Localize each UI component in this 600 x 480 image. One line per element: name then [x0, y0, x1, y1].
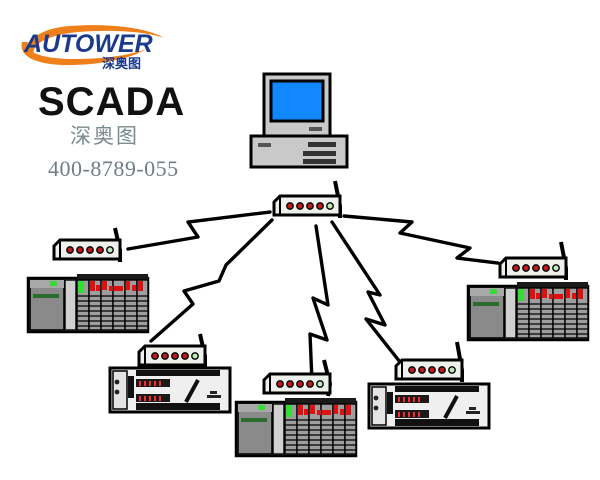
plc-io-led-r1: [90, 281, 95, 291]
rtu-bottom-terminals: [395, 419, 479, 426]
rtu-knob-2: [115, 390, 120, 395]
plc-cpu-display: [241, 418, 267, 422]
plc-io-led-r7: [340, 409, 344, 415]
radio-led-5: [553, 265, 559, 271]
plc-io-led-green: [286, 405, 292, 417]
wireless-radio-modem-icon-hub[interactable]: [268, 180, 360, 230]
monitor-control: [309, 127, 322, 131]
radio-led-5: [317, 381, 323, 387]
radio-led-3: [297, 381, 303, 387]
radio-led-4: [97, 247, 103, 253]
plc-cpu-top: [238, 404, 272, 412]
radio-led-1: [67, 247, 73, 253]
plc-io-led-r2: [536, 293, 540, 299]
radio-led-2: [287, 381, 293, 387]
rtu-connector: [387, 392, 393, 414]
flow-computer-site-lower-right[interactable]: [367, 382, 491, 430]
plc-io-modules: [517, 282, 588, 338]
case-button: [258, 143, 271, 147]
plc-io-led-r7: [572, 293, 576, 299]
plc-io-led-r6: [566, 289, 570, 298]
plc-io-led-green: [78, 281, 84, 293]
radio-led-3: [87, 247, 93, 253]
rtu-top-terminals: [136, 370, 220, 376]
radio-led-3: [307, 203, 313, 209]
radio-led-5: [327, 203, 333, 209]
monitor-screen: [271, 81, 323, 121]
plc-io-led-r5: [114, 286, 123, 291]
radio-led-4: [543, 265, 549, 271]
radio-led-2: [162, 353, 168, 359]
plc-rack-site-left[interactable]: [26, 272, 152, 334]
plc-rack-site-center[interactable]: [234, 396, 360, 458]
rtu-display-2: [136, 394, 170, 402]
plc-io-led-r1: [298, 405, 303, 415]
radio-led-3: [429, 367, 435, 373]
plc-cpu-top: [470, 288, 504, 296]
plc-io-led-r6: [334, 405, 338, 414]
wireless-link-to-site-lower-left-rtu: [151, 220, 272, 341]
plc-io-led-r4: [109, 286, 113, 291]
rtu-knob-2: [374, 406, 379, 411]
plc-terminal-rows: [517, 304, 588, 334]
radio-led-1: [513, 265, 519, 271]
plc-cpu-run-led: [490, 289, 497, 294]
radio-led-2: [77, 247, 83, 253]
plc-io-led-r2: [96, 285, 100, 291]
rtu-left-panel: [113, 371, 127, 409]
rtu-left-panel: [372, 387, 386, 425]
plc-io-led-r8: [346, 405, 351, 415]
plc-io-led-r3: [102, 281, 107, 290]
radio-led-2: [297, 203, 303, 209]
plc-io-led-r5: [322, 410, 331, 415]
plc-io-modules: [77, 274, 148, 330]
plc-io-led-r3: [310, 405, 315, 414]
plc-io-led-r5: [554, 294, 563, 299]
plc-blank-slot: [65, 280, 76, 330]
plc-cpu-display: [473, 302, 499, 306]
plc-io-led-r1: [530, 289, 535, 299]
radio-led-2: [523, 265, 529, 271]
rtu-display-1: [136, 379, 170, 387]
diagram-canvas: AUTOWER 深奥图 SCADA 深奥图 400-8789-055: [0, 0, 600, 480]
rtu-label-1: [207, 395, 221, 398]
radio-led-1: [152, 353, 158, 359]
wireless-link-to-site-center-plc: [310, 226, 328, 382]
plc-terminal-rows: [77, 296, 148, 326]
plc-io-led-r4: [549, 294, 553, 299]
rtu-knob-1: [115, 380, 120, 385]
case-slot-1: [308, 142, 336, 147]
plc-io-led-r8: [138, 281, 143, 291]
radio-led-1: [409, 367, 415, 373]
plc-io-led-r2: [304, 409, 308, 415]
rtu-connector: [128, 376, 134, 398]
plc-cpu-run-led: [258, 405, 265, 410]
plc-cpu-run-led: [50, 281, 57, 286]
plc-io-led-r8: [578, 289, 583, 299]
radio-led-4: [439, 367, 445, 373]
radio-led-4: [307, 381, 313, 387]
radio-led-3: [172, 353, 178, 359]
radio-led-2: [419, 367, 425, 373]
rtu-knob-1: [374, 396, 379, 401]
rtu-bottom-terminals: [136, 403, 220, 410]
radio-led-4: [182, 353, 188, 359]
case-slot-2: [303, 151, 336, 156]
radio-led-1: [287, 203, 293, 209]
rtu-display-1: [395, 395, 429, 403]
rtu-label-1: [466, 411, 480, 414]
radio-led-5: [449, 367, 455, 373]
plc-terminal-rows: [285, 420, 356, 450]
plc-io-led-r4: [317, 410, 321, 415]
plc-io-led-r7: [132, 285, 136, 291]
plc-cpu-top: [30, 280, 64, 288]
radio-led-5: [192, 353, 198, 359]
plc-io-modules: [285, 398, 356, 454]
plc-blank-slot: [273, 404, 284, 454]
wireless-link-to-site-lower-right-rtu: [332, 222, 400, 362]
computer-workstation-icon[interactable]: [245, 72, 355, 177]
case-slot-3: [303, 159, 336, 164]
radio-led-5: [107, 247, 113, 253]
wireless-radio-modem-icon-site-left[interactable]: [48, 228, 140, 274]
plc-io-led-r3: [542, 289, 547, 298]
plc-blank-slot: [505, 288, 516, 338]
radio-led-1: [277, 381, 283, 387]
plc-rack-site-right[interactable]: [466, 280, 592, 342]
plc-io-led-r6: [126, 281, 130, 290]
plc-io-led-green: [518, 289, 524, 301]
plc-cpu-display: [33, 294, 59, 298]
rtu-label-2: [469, 407, 476, 410]
wireless-link-to-site-right-plc: [344, 216, 498, 263]
flow-computer-site-lower-left[interactable]: [108, 366, 232, 414]
rtu-label-2: [210, 391, 217, 394]
rtu-top-terminals: [395, 386, 479, 392]
rtu-display-2: [395, 410, 429, 418]
radio-led-4: [317, 203, 323, 209]
radio-led-3: [533, 265, 539, 271]
